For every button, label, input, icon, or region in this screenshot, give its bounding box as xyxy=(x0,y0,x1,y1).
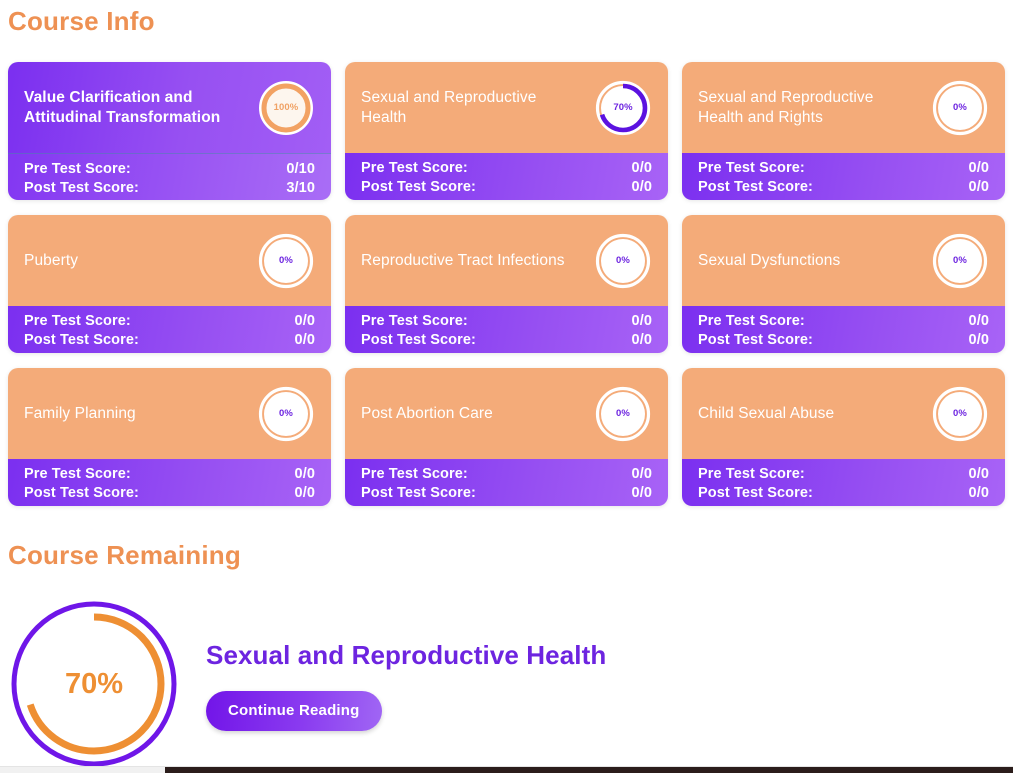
post-test-score-row: Post Test Score:0/0 xyxy=(24,331,315,350)
course-card[interactable]: Family Planning0%Pre Test Score:0/0Post … xyxy=(8,368,331,506)
post-test-score-label: Post Test Score: xyxy=(24,484,139,503)
course-progress-percent-label: 0% xyxy=(258,386,314,442)
pre-test-score-value: 0/0 xyxy=(969,159,989,178)
course-card-scores: Pre Test Score:0/0Post Test Score:0/0 xyxy=(345,153,668,200)
post-test-score-label: Post Test Score: xyxy=(24,331,139,350)
section-title-course-remaining: Course Remaining xyxy=(8,540,241,571)
course-card-header: Sexual and Reproductive Health and Right… xyxy=(682,62,1005,153)
course-card-title: Family Planning xyxy=(24,404,136,424)
post-test-score-value: 0/0 xyxy=(969,484,989,503)
course-progress-percent-label: 0% xyxy=(932,386,988,442)
course-card-title: Puberty xyxy=(24,251,78,271)
horizontal-scrollbar[interactable] xyxy=(0,766,1013,773)
post-test-score-value: 0/0 xyxy=(969,331,989,350)
course-progress-donut-icon: 0% xyxy=(258,386,314,442)
pre-test-score-row: Pre Test Score:0/0 xyxy=(24,465,315,484)
course-card-scores: Pre Test Score:0/0Post Test Score:0/0 xyxy=(682,459,1005,506)
post-test-score-value: 0/0 xyxy=(969,178,989,197)
pre-test-score-label: Pre Test Score: xyxy=(24,465,131,484)
post-test-score-row: Post Test Score:0/0 xyxy=(698,178,989,197)
course-card-title: Sexual Dysfunctions xyxy=(698,251,840,271)
course-card[interactable]: Sexual and Reproductive Health70%Pre Tes… xyxy=(345,62,668,200)
pre-test-score-label: Pre Test Score: xyxy=(361,465,468,484)
course-remaining-progress-donut: 70% xyxy=(8,598,180,770)
pre-test-score-label: Pre Test Score: xyxy=(24,312,131,331)
course-card-header: Puberty0% xyxy=(8,215,331,306)
horizontal-scrollbar-thumb[interactable] xyxy=(165,767,1013,773)
course-card-scores: Pre Test Score:0/0Post Test Score:0/0 xyxy=(345,306,668,353)
course-card-scores: Pre Test Score:0/0Post Test Score:0/0 xyxy=(8,459,331,506)
course-card-title: Child Sexual Abuse xyxy=(698,404,834,424)
course-progress-donut-icon: 0% xyxy=(932,233,988,289)
pre-test-score-row: Pre Test Score:0/0 xyxy=(698,465,989,484)
post-test-score-row: Post Test Score:3/10 xyxy=(24,179,315,198)
course-card[interactable]: Puberty0%Pre Test Score:0/0Post Test Sco… xyxy=(8,215,331,353)
course-card[interactable]: Value Clarification and Attitudinal Tran… xyxy=(8,62,331,200)
course-card[interactable]: Post Abortion Care0%Pre Test Score:0/0Po… xyxy=(345,368,668,506)
course-progress-percent-label: 0% xyxy=(932,233,988,289)
course-progress-percent-label: 0% xyxy=(258,233,314,289)
pre-test-score-row: Pre Test Score:0/0 xyxy=(361,159,652,178)
course-card-scores: Pre Test Score:0/0Post Test Score:0/0 xyxy=(8,306,331,353)
course-card[interactable]: Child Sexual Abuse0%Pre Test Score:0/0Po… xyxy=(682,368,1005,506)
course-card-header: Sexual and Reproductive Health70% xyxy=(345,62,668,153)
course-card-header: Child Sexual Abuse0% xyxy=(682,368,1005,459)
course-progress-donut-icon: 0% xyxy=(258,233,314,289)
course-progress-percent-label: 100% xyxy=(258,80,314,136)
course-progress-percent-label: 0% xyxy=(595,386,651,442)
post-test-score-label: Post Test Score: xyxy=(698,484,813,503)
pre-test-score-row: Pre Test Score:0/0 xyxy=(698,159,989,178)
pre-test-score-label: Pre Test Score: xyxy=(361,159,468,178)
post-test-score-row: Post Test Score:0/0 xyxy=(361,331,652,350)
post-test-score-row: Post Test Score:0/0 xyxy=(361,178,652,197)
course-progress-donut-icon: 0% xyxy=(595,386,651,442)
pre-test-score-label: Pre Test Score: xyxy=(361,312,468,331)
post-test-score-label: Post Test Score: xyxy=(698,178,813,197)
pre-test-score-row: Pre Test Score:0/10 xyxy=(24,160,315,179)
pre-test-score-row: Pre Test Score:0/0 xyxy=(361,465,652,484)
pre-test-score-value: 0/0 xyxy=(295,312,315,331)
pre-test-score-value: 0/0 xyxy=(632,312,652,331)
course-card-header: Family Planning0% xyxy=(8,368,331,459)
post-test-score-row: Post Test Score:0/0 xyxy=(698,331,989,350)
course-card-title: Sexual and Reproductive Health and Right… xyxy=(698,88,916,128)
course-progress-donut-icon: 70% xyxy=(595,80,651,136)
post-test-score-label: Post Test Score: xyxy=(361,178,476,197)
course-card-header: Sexual Dysfunctions0% xyxy=(682,215,1005,306)
pre-test-score-row: Pre Test Score:0/0 xyxy=(24,312,315,331)
course-card-title: Value Clarification and Attitudinal Tran… xyxy=(24,88,242,128)
continue-reading-button[interactable]: Continue Reading xyxy=(206,691,382,731)
course-card-title: Reproductive Tract Infections xyxy=(361,251,565,271)
pre-test-score-row: Pre Test Score:0/0 xyxy=(361,312,652,331)
course-dashboard-page: Course Info Value Clarification and Atti… xyxy=(0,0,1013,773)
post-test-score-value: 0/0 xyxy=(632,484,652,503)
course-card-header: Post Abortion Care0% xyxy=(345,368,668,459)
course-card-scores: Pre Test Score:0/0Post Test Score:0/0 xyxy=(682,153,1005,200)
course-card-title: Post Abortion Care xyxy=(361,404,493,424)
course-card-header: Reproductive Tract Infections0% xyxy=(345,215,668,306)
course-card[interactable]: Reproductive Tract Infections0%Pre Test … xyxy=(345,215,668,353)
course-card[interactable]: Sexual and Reproductive Health and Right… xyxy=(682,62,1005,200)
course-progress-percent-label: 0% xyxy=(932,80,988,136)
course-remaining-panel: 70% Sexual and Reproductive Health Conti… xyxy=(8,598,606,770)
course-progress-donut-icon: 0% xyxy=(932,80,988,136)
pre-test-score-value: 0/0 xyxy=(632,159,652,178)
course-card[interactable]: Sexual Dysfunctions0%Pre Test Score:0/0P… xyxy=(682,215,1005,353)
course-progress-percent-label: 70% xyxy=(595,80,651,136)
post-test-score-label: Post Test Score: xyxy=(361,331,476,350)
pre-test-score-row: Pre Test Score:0/0 xyxy=(698,312,989,331)
post-test-score-label: Post Test Score: xyxy=(24,179,139,198)
course-card-title: Sexual and Reproductive Health xyxy=(361,88,579,128)
post-test-score-value: 0/0 xyxy=(295,331,315,350)
course-card-scores: Pre Test Score:0/0Post Test Score:0/0 xyxy=(345,459,668,506)
course-progress-donut-icon: 100% xyxy=(258,80,314,136)
pre-test-score-value: 0/10 xyxy=(286,160,315,179)
course-progress-donut-icon: 0% xyxy=(595,233,651,289)
post-test-score-value: 0/0 xyxy=(632,331,652,350)
pre-test-score-label: Pre Test Score: xyxy=(698,159,805,178)
post-test-score-row: Post Test Score:0/0 xyxy=(24,484,315,503)
course-progress-percent-label: 0% xyxy=(595,233,651,289)
post-test-score-label: Post Test Score: xyxy=(698,331,813,350)
course-card-scores: Pre Test Score:0/0Post Test Score:0/0 xyxy=(682,306,1005,353)
course-remaining-course-name: Sexual and Reproductive Health xyxy=(206,640,606,671)
course-card-header: Value Clarification and Attitudinal Tran… xyxy=(8,62,331,153)
post-test-score-row: Post Test Score:0/0 xyxy=(361,484,652,503)
course-card-scores: Pre Test Score:0/10Post Test Score:3/10 xyxy=(8,153,331,200)
pre-test-score-label: Pre Test Score: xyxy=(698,465,805,484)
pre-test-score-label: Pre Test Score: xyxy=(698,312,805,331)
post-test-score-label: Post Test Score: xyxy=(361,484,476,503)
pre-test-score-value: 0/0 xyxy=(969,312,989,331)
post-test-score-value: 0/0 xyxy=(295,484,315,503)
pre-test-score-value: 0/0 xyxy=(969,465,989,484)
pre-test-score-label: Pre Test Score: xyxy=(24,160,131,179)
course-card-grid: Value Clarification and Attitudinal Tran… xyxy=(8,62,1005,506)
post-test-score-value: 0/0 xyxy=(632,178,652,197)
course-remaining-details: Sexual and Reproductive Health Continue … xyxy=(206,598,606,731)
course-progress-donut-icon: 0% xyxy=(932,386,988,442)
post-test-score-value: 3/10 xyxy=(286,179,315,198)
post-test-score-row: Post Test Score:0/0 xyxy=(698,484,989,503)
page-title-course-info: Course Info xyxy=(8,6,155,37)
pre-test-score-value: 0/0 xyxy=(632,465,652,484)
course-remaining-percent-label: 70% xyxy=(8,598,180,770)
pre-test-score-value: 0/0 xyxy=(295,465,315,484)
